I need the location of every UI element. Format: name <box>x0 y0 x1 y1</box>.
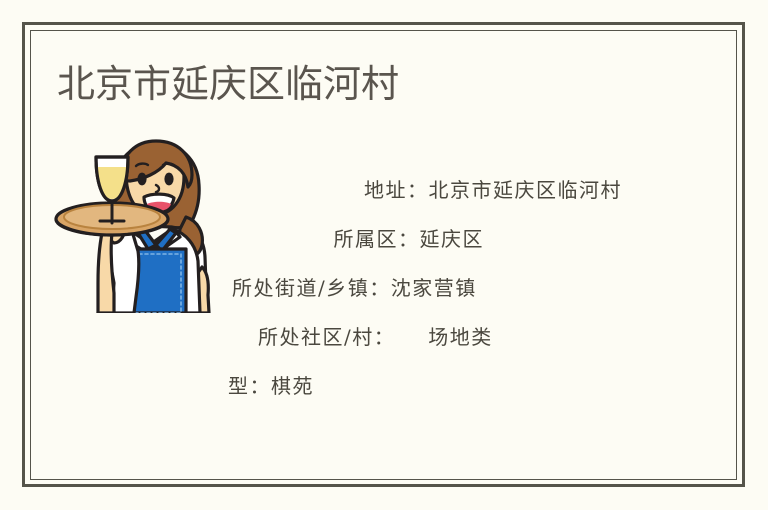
page-title: 北京市延庆区临河村 <box>57 62 399 108</box>
right-eye <box>164 173 173 186</box>
waitress-illustration <box>52 133 232 313</box>
info-line-venue-type: 型：棋苑 <box>222 362 622 411</box>
info-line-district: 所属区：延庆区 <box>222 215 622 264</box>
info-line-community: 所处社区/村： 场地类 <box>222 313 622 362</box>
info-line-address: 地址：北京市延庆区临河村 <box>222 166 622 215</box>
info-line-street: 所处街道/乡镇：沈家营镇 <box>222 264 622 313</box>
venue-info-block: 地址：北京市延庆区临河村 所属区：延庆区 所处街道/乡镇：沈家营镇 所处社区/村… <box>222 166 622 411</box>
left-eye <box>137 173 146 186</box>
left-forearm <box>98 233 114 313</box>
page-root: 北京市延庆区临河村 <box>0 0 768 510</box>
